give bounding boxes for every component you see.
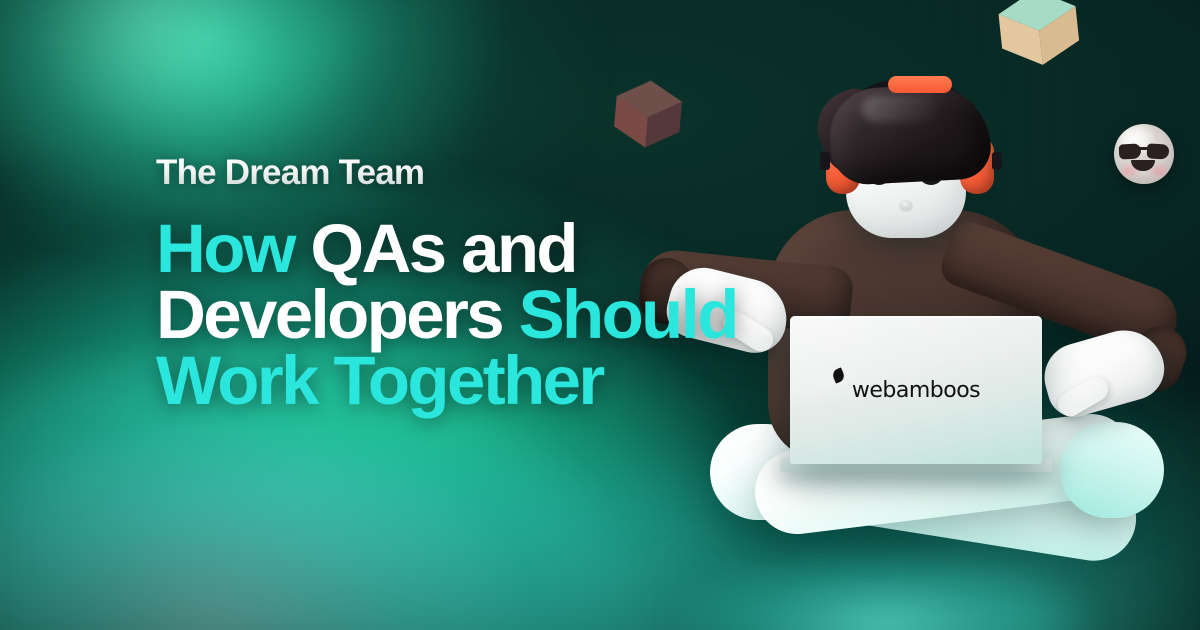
emoji-sunglasses [1118, 144, 1170, 159]
headline-word-work-together: Work Together [156, 342, 603, 419]
hair-highlight [862, 96, 938, 122]
nose [900, 200, 912, 210]
emoji-lens-left [1119, 143, 1142, 159]
emoji-blush-right [1151, 166, 1167, 176]
sunglasses-smiley-icon [1114, 124, 1174, 184]
headline-line-2: Developers Should [156, 282, 796, 348]
headphone-knob-right [992, 152, 1002, 170]
headphone-top-pad [888, 76, 952, 93]
headline-line-1: How QAs and [156, 216, 796, 282]
dark-cube-icon [607, 73, 689, 155]
mint-cube-icon [992, 0, 1087, 76]
page-title: How QAs and Developers Should Work Toget… [156, 216, 796, 414]
foot-right [1060, 422, 1164, 518]
laptop-lid: webamboos [790, 316, 1042, 464]
hero-banner: webamboos The Dream Team How QAs and Dev… [0, 0, 1200, 630]
headphone-knob-left [820, 152, 830, 170]
brand-logo-text: webamboos [852, 378, 980, 403]
hero-copy: The Dream Team How QAs and Developers Sh… [156, 155, 796, 414]
brand-logo: webamboos [790, 378, 1042, 403]
eyebrow-text: The Dream Team [156, 155, 796, 190]
emoji-lens-right [1147, 143, 1170, 159]
headline-line-3: Work Together [156, 348, 796, 414]
